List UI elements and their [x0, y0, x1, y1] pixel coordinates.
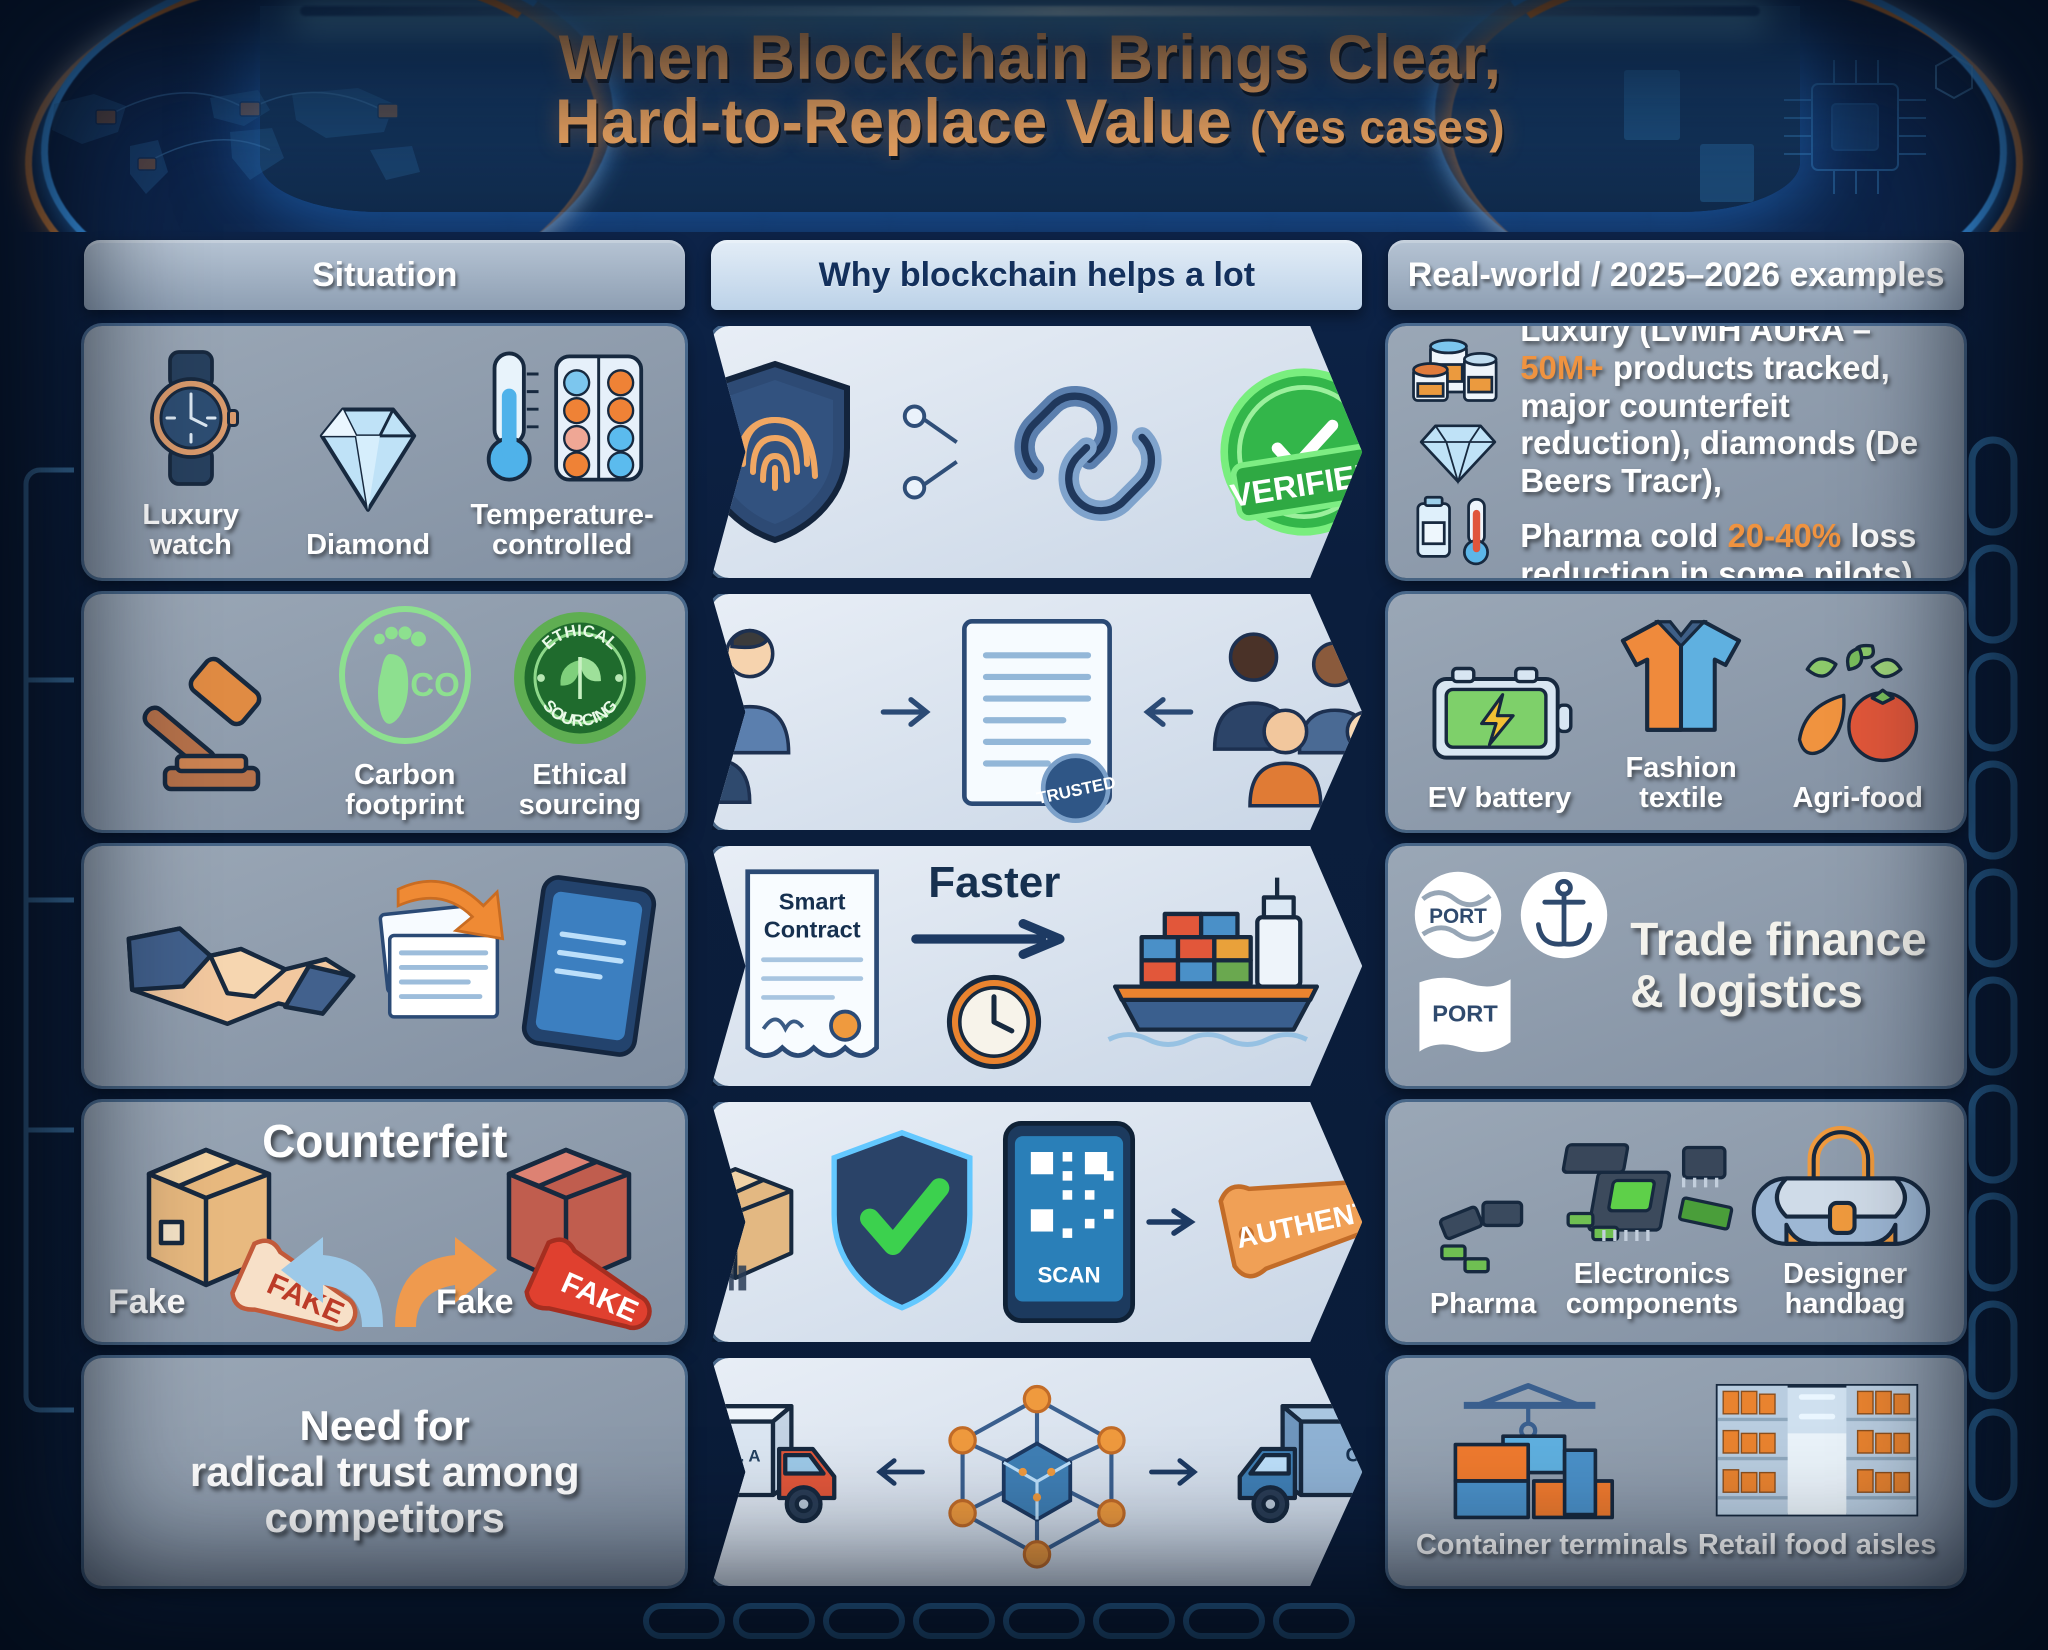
page-title: When Blockchain Brings Clear, Hard-to-Re…	[300, 26, 1760, 155]
network-node-icon	[932, 1377, 1142, 1567]
fingerprint-shield-icon	[711, 352, 874, 552]
title-suffix: (Yes cases)	[1250, 101, 1505, 153]
list-item: Fashiontextile	[1606, 611, 1756, 813]
contract-line-2: Contract	[764, 917, 861, 943]
temperature-controlled-icon	[474, 343, 650, 493]
infographic-canvas: When Blockchain Brings Clear, Hard-to-Re…	[0, 0, 2048, 1650]
qr-phone-icon: SCAN	[994, 1117, 1144, 1327]
arrow-left-icon	[1132, 692, 1194, 732]
arrow-left-icon	[868, 1455, 926, 1489]
item-label: Electronicscomponents	[1566, 1260, 1738, 1319]
scan-label: SCAN	[1037, 1262, 1100, 1287]
authentic-tag-icon: AUTHENTIC	[1204, 1157, 1362, 1287]
table-row: Luxurywatch Diamond	[84, 326, 1964, 578]
pharma-icon	[1428, 1192, 1538, 1282]
pharma-jars-icon	[1404, 337, 1512, 409]
ev-battery-icon	[1420, 658, 1580, 776]
list-item: Agri-food	[1783, 646, 1933, 814]
item-label: Carbonfootprint	[345, 761, 464, 820]
parcel-box-icon	[711, 1147, 809, 1297]
arrow-right-icon	[909, 916, 1079, 962]
column-header-situation: Situation	[84, 240, 685, 310]
situation-cell-trade	[84, 846, 685, 1086]
examples-cell-esg: EV battery Fashiontextile	[1388, 594, 1964, 830]
left-connector-rail-icon	[18, 430, 88, 1450]
table-row: Smart Contract Faster	[84, 846, 1964, 1086]
truck-left-label: Logistics Co. A	[711, 1446, 760, 1465]
item-label: Diamond	[306, 531, 430, 561]
diamond-icon	[293, 391, 443, 523]
column-header-examples: Real-world / 2025–2026 examples	[1388, 240, 1964, 310]
item-label: Retail food aisles	[1698, 1531, 1937, 1561]
examples-cell-trade: PORT PORT	[1388, 846, 1964, 1086]
situation-cell-coopetition: Need forradical trust amongcompetitors	[84, 1358, 685, 1586]
highlight-50m: 50M+	[1520, 349, 1603, 386]
designer-handbag-icon	[1770, 1124, 1920, 1252]
comparison-table: Situation Why blockchain helps a lot Rea…	[84, 240, 1964, 1602]
connector-dots-icon	[901, 387, 967, 517]
examples-text: Luxury (LVMH AURA – 50M+ products tracke…	[1520, 326, 1948, 578]
diamond-icon	[1408, 415, 1508, 487]
why-cell-counterfeit: SCAN AUTHENTIC	[711, 1102, 1362, 1342]
shield-check-icon	[812, 1122, 992, 1322]
faster-label: Faster	[928, 858, 1060, 908]
table-row: CO Carbonfootprint	[84, 594, 1964, 830]
arrow-right-icon	[1146, 1204, 1202, 1240]
list-item	[115, 663, 305, 821]
list-item: Diamond	[293, 391, 443, 561]
list-item: CO Carbonfootprint	[330, 603, 480, 820]
item-label: Designer handbag	[1744, 1260, 1946, 1319]
verified-badge-icon: VERIFIED	[1209, 357, 1362, 547]
examples-cell-provenance: Luxury (LVMH AURA – 50M+ products tracke…	[1388, 326, 1964, 578]
truck-right-label: Co. B	[1345, 1444, 1362, 1466]
column-header-why: Why blockchain helps a lot	[711, 240, 1362, 310]
contract-line-1: Smart	[779, 888, 846, 914]
list-item: Pharma	[1406, 1192, 1560, 1320]
bottom-chain-icon	[640, 1598, 1400, 1644]
why-cell-provenance: VERIFIED	[711, 326, 1362, 578]
list-item: Container terminals	[1416, 1383, 1688, 1561]
table-header-row: Situation Why blockchain helps a lot Rea…	[84, 240, 1964, 310]
list-item: Temperature-controlled	[471, 343, 654, 560]
vaccine-vial-thermometer-icon	[1404, 493, 1512, 567]
why-cell-trade: Smart Contract Faster	[711, 846, 1362, 1086]
title-line-2: Hard-to-Replace Value	[555, 87, 1232, 157]
list-item: Designer handbag	[1744, 1124, 1946, 1319]
why-cell-coopetition: Logistics Co. A	[711, 1358, 1362, 1586]
item-label: Fashiontextile	[1626, 754, 1737, 813]
ethical-sourcing-badge-icon: ETHICAL SOURCING	[505, 603, 655, 753]
port-round-icon: PORT	[1410, 867, 1506, 963]
item-label: Temperature-controlled	[471, 501, 654, 560]
arrow-right-icon	[880, 692, 942, 732]
list-item: Retail food aisles	[1698, 1383, 1937, 1561]
agri-food-icon	[1783, 646, 1933, 776]
list-item: EV battery	[1420, 658, 1580, 814]
electronics-components-icon	[1562, 1142, 1742, 1252]
item-label: Ethicalsourcing	[519, 761, 641, 820]
carbon-icon-text: CO	[410, 666, 460, 703]
stakeholders-group-icon	[1204, 612, 1362, 812]
anchor-round-icon	[1516, 867, 1612, 963]
list-item: Luxurywatch	[116, 343, 266, 560]
examples-title: Trade finance& logistics	[1630, 914, 1927, 1017]
luxury-watch-icon	[116, 343, 266, 493]
smartphone-icon	[524, 876, 654, 1056]
chain-link-icon	[993, 377, 1183, 527]
examples-cell-coopetition: Container terminals	[1388, 1358, 1964, 1586]
truck-icon: Logistics Co. A	[711, 1397, 861, 1547]
header-banner: When Blockchain Brings Clear, Hard-to-Re…	[0, 0, 2048, 232]
truck-icon: Co. B	[1212, 1397, 1362, 1547]
smart-contract-icon: Smart Contract	[732, 861, 897, 1071]
container-ship-icon	[1091, 871, 1341, 1061]
orange-arrow-icon	[384, 870, 514, 980]
document-icon: TRUSTED	[952, 610, 1122, 815]
container-terminal-icon	[1447, 1383, 1657, 1523]
port-shield-icon: PORT	[1410, 969, 1520, 1065]
why-cell-esg: TRUSTED	[711, 594, 1362, 830]
handshake-icon	[116, 881, 366, 1051]
list-item: Electronicscomponents	[1560, 1142, 1744, 1319]
retail-food-aisle-icon	[1712, 1383, 1922, 1523]
item-label: Agri-food	[1792, 784, 1922, 814]
clock-icon	[942, 970, 1046, 1074]
paragraph-1-pre: Luxury (LVMH AURA –	[1520, 326, 1871, 348]
coopetition-title: Need forradical trust amongcompetitors	[84, 1403, 685, 1542]
right-fake-label: Fake	[436, 1285, 514, 1320]
port-badge-text: PORT	[1429, 905, 1487, 928]
port-badge-text: PORT	[1432, 1001, 1498, 1027]
item-label: Luxurywatch	[142, 501, 239, 560]
chain-rail-icon	[1956, 430, 2030, 1590]
title-line-1: When Blockchain Brings Clear,	[300, 26, 1760, 90]
situation-cell-provenance: Luxurywatch Diamond	[84, 326, 685, 578]
item-label: Container terminals	[1416, 1531, 1688, 1561]
fashion-textile-icon	[1606, 611, 1756, 746]
situation-cell-esg: CO Carbonfootprint	[84, 594, 685, 830]
highlight-20-40: 20-40%	[1727, 517, 1841, 554]
paragraph-2-pre: Pharma cold	[1520, 517, 1727, 554]
examples-cell-counterfeit: Pharma	[1388, 1102, 1964, 1342]
left-fake-label: Fake	[108, 1285, 186, 1320]
arrow-right-icon	[1148, 1455, 1206, 1489]
item-label: EV battery	[1428, 784, 1571, 814]
carbon-footprint-icon: CO	[330, 603, 480, 753]
situation-cell-counterfeit: Counterfeit FAKE	[84, 1102, 685, 1342]
gavel-icon	[115, 663, 305, 813]
table-row: Need forradical trust amongcompetitors	[84, 1358, 1964, 1586]
item-label: Pharma	[1430, 1290, 1536, 1320]
list-item: ETHICAL SOURCING Ethicalsourcing	[505, 603, 655, 820]
stakeholders-group-icon	[711, 612, 869, 812]
blockchain-cube-icon	[1004, 1444, 1071, 1520]
table-row: Counterfeit FAKE	[84, 1102, 1964, 1342]
